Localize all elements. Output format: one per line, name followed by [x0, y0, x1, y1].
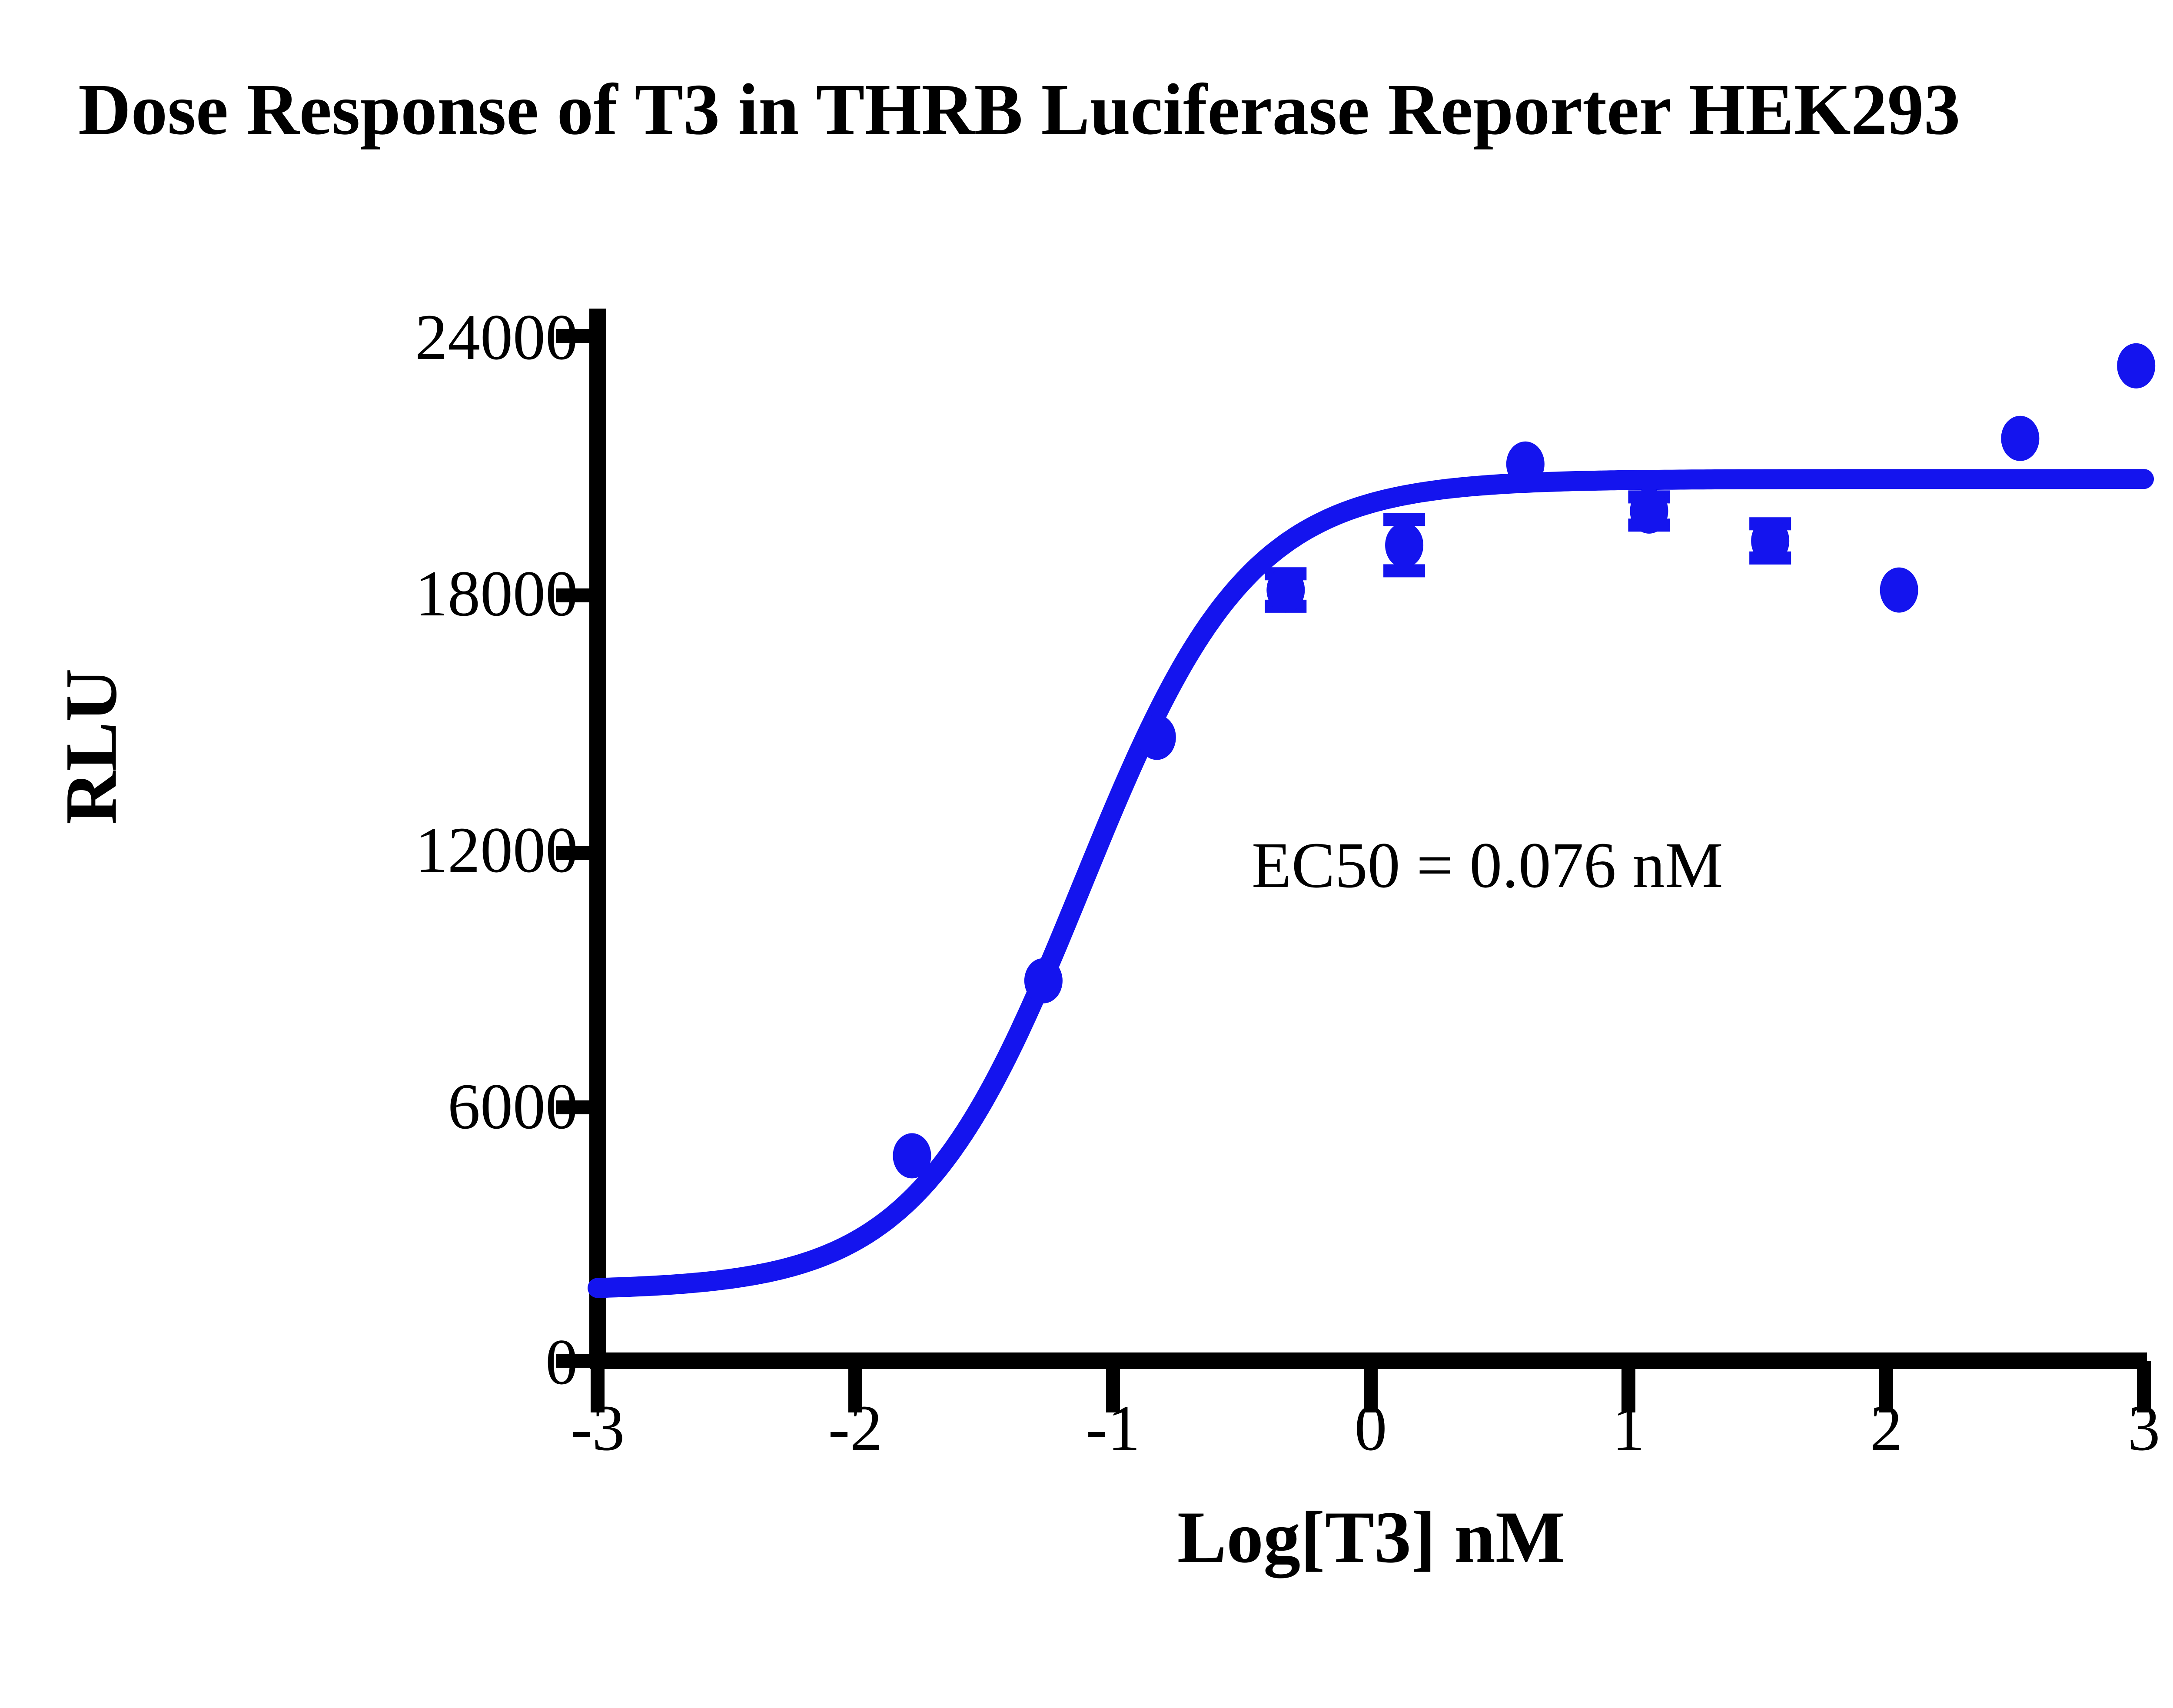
data-point-marker — [2117, 343, 2155, 389]
data-point-marker — [1630, 488, 1668, 534]
data-points — [893, 343, 2155, 1179]
data-point-marker — [1751, 518, 1789, 564]
data-point-marker — [1138, 715, 1176, 760]
chart-figure: Dose Response of T3 in THRB Luciferase R… — [0, 0, 2173, 1708]
data-point-marker — [1024, 958, 1063, 1004]
data-point-marker — [2001, 416, 2039, 461]
plot-area — [0, 0, 2173, 1708]
data-point-marker — [893, 1133, 931, 1178]
data-point-marker — [1506, 442, 1545, 487]
data-point-marker — [1385, 522, 1423, 568]
data-point-marker — [1880, 568, 1918, 613]
data-point-marker — [1266, 568, 1305, 613]
